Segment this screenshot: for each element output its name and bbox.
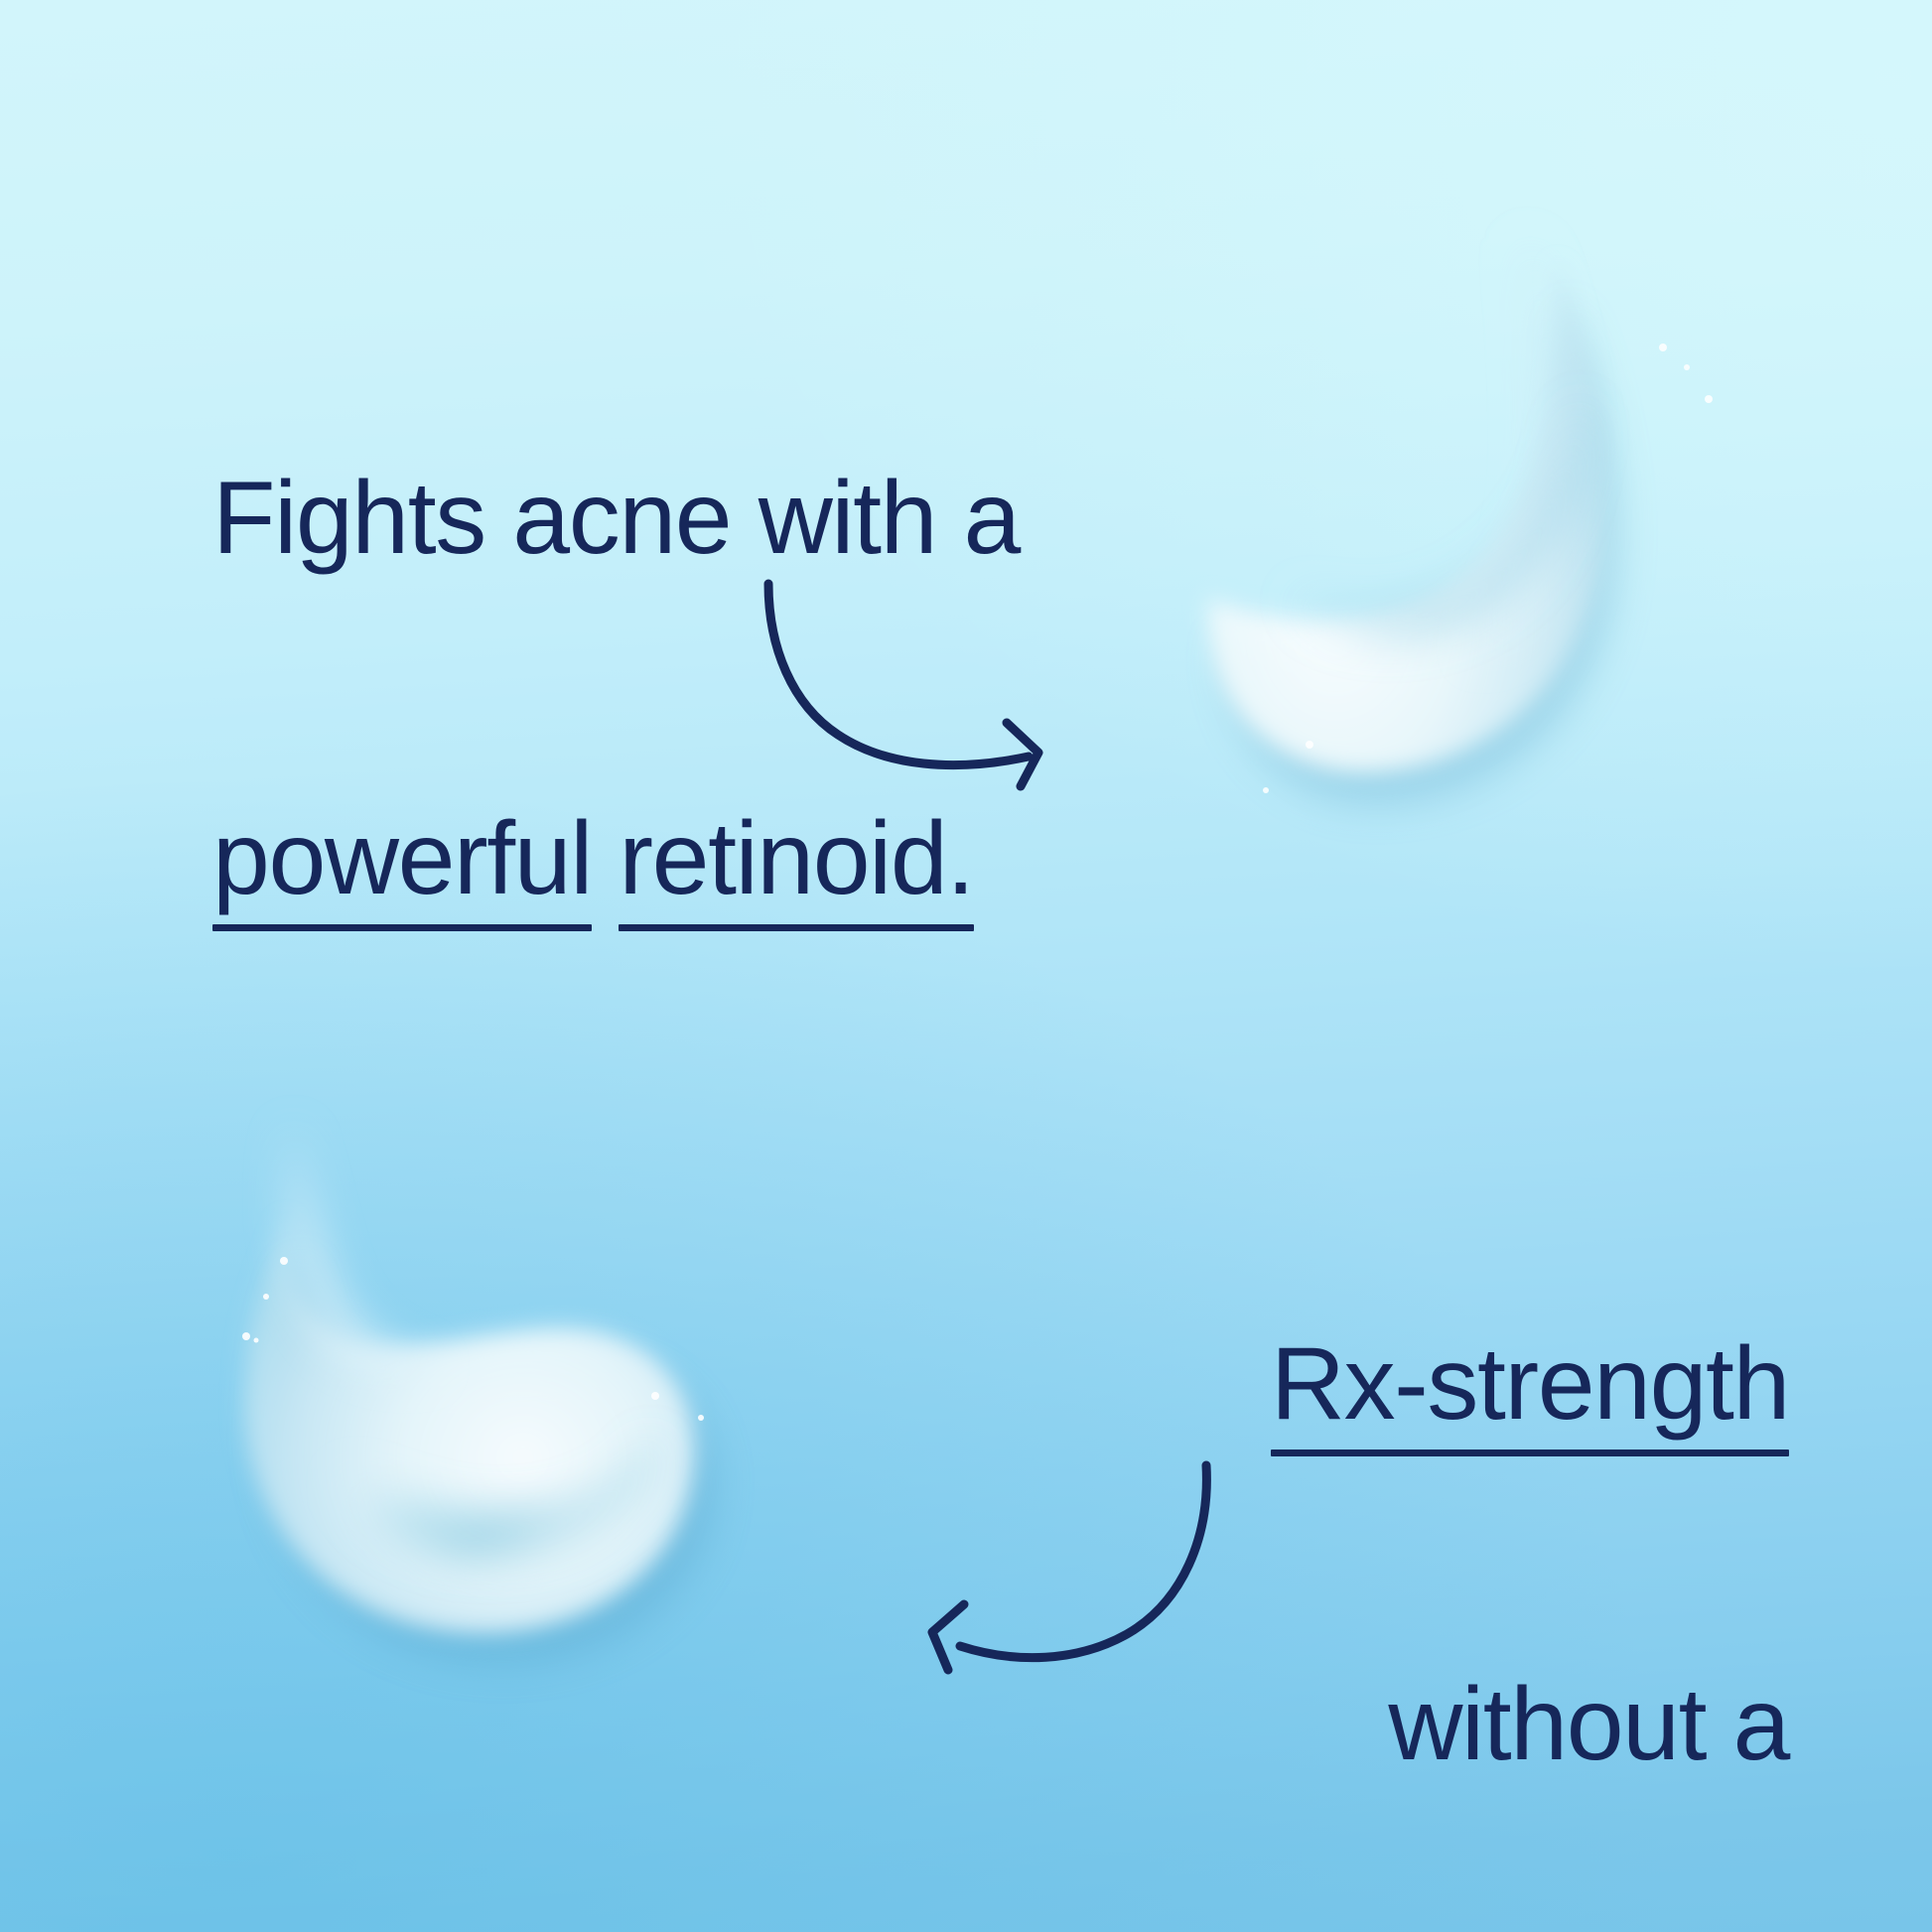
cream-swatch-lower [189,1102,824,1718]
swatch-blue-core [308,1420,655,1562]
headline-primary-line-1: Fights acne with a [212,462,1020,575]
swatch-body [243,1215,694,1633]
swatch-highlights [242,1257,704,1421]
cream-swatch-upper [1097,149,1732,824]
swatch-highlights [1263,344,1713,793]
headline-primary-underlined-powerful: powerful [212,802,592,915]
headline-primary-underlined-retinoid: retinoid. [619,802,973,915]
swatch-tail [288,1122,439,1368]
arrow-head [932,1604,964,1670]
headline-secondary-underlined-rx-strength: Rx-strength [1271,1327,1789,1441]
headline-secondary-line-2: without a [1245,1668,1789,1781]
promo-image-canvas: Fights acne with a powerful retinoid. Rx… [0,0,1932,1932]
swatch-tail [1474,232,1570,655]
headline-primary: Fights acne with a powerful retinoid. [212,234,1020,1143]
headline-primary-line-2: powerful retinoid. [212,802,1020,915]
headline-primary-space [592,801,620,916]
arrow-curved-left [898,1451,1256,1700]
swatch-shadow [1225,298,1616,804]
swatch-shadow [267,1251,714,1663]
arrow-shaft [960,1465,1206,1658]
swatch-body [1207,260,1606,772]
headline-primary-line-1-text: Fights acne with a [212,461,1020,576]
headline-secondary-line-2-text: without a [1388,1667,1789,1782]
headline-secondary: Rx-strength without a prescription. [1245,1100,1789,1932]
swatch-blue-core [1292,395,1582,634]
headline-secondary-line-1: Rx-strength [1245,1327,1789,1441]
